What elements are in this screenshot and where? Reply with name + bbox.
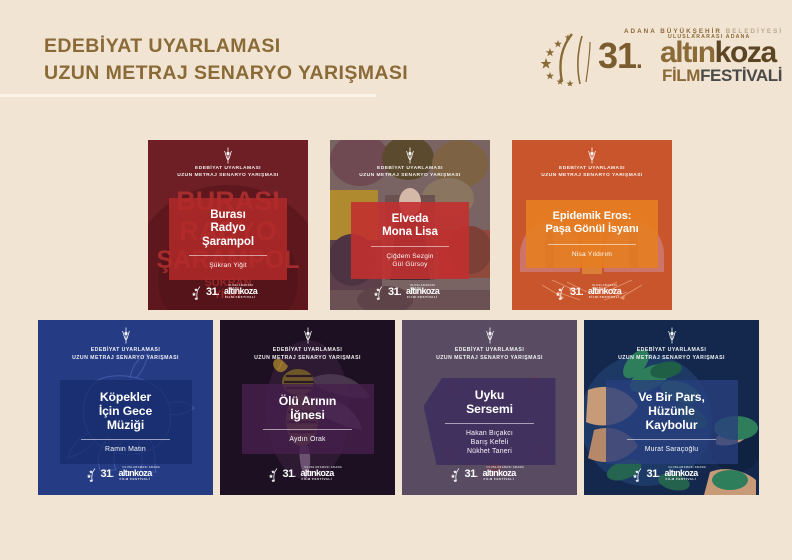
card-contest-header: EDEBİYAT UYARLAMASI UZUN METRAJ SENARYO … [38, 347, 213, 363]
card-logo-sub: FİLM FESTİVALİ [589, 295, 620, 299]
header-divider [0, 94, 376, 97]
card-logo-edition: 31. [465, 468, 478, 481]
card-logo-sub: FİLM FESTİVALİ [302, 477, 333, 481]
figure-crest-icon [302, 327, 313, 344]
plaque-divider [263, 429, 351, 430]
card-festival-logo: 31. ULUSLARARASI ADANA altınkoza FİLM FE… [556, 285, 628, 300]
card-plaque: Epidemik Eros: Paşa Gönül İsyanı Nisa Yı… [526, 200, 658, 268]
card-plaque: Elveda Mona Lisa Çiğdem Sezgin Gül Gürso… [351, 202, 469, 279]
card-logo-edition: 31. [283, 468, 296, 481]
page-header: EDEBİYAT UYARLAMASI UZUN METRAJ SENARYO … [0, 0, 792, 110]
card-festival-logo: 31. ULUSLARARASI ADANA altınkoza FİLM FE… [374, 285, 446, 300]
poster-card[interactable]: EDEBİYAT UYARLAMASI UZUN METRAJ SENARYO … [512, 140, 672, 310]
plaque-divider [627, 439, 715, 440]
card-festival-logo: 31. ULUSLARARASI ADANA altınkoza FİLM FE… [192, 285, 264, 300]
card-logo-sub: FİLM FESTİVALİ [484, 477, 515, 481]
poster-row-top: BURASI RADYO ŞARAMPOL ŞÜKRAN YİĞİT EDEBİ… [148, 140, 672, 310]
figure-crest-icon [587, 147, 598, 164]
page-title: EDEBİYAT UYARLAMASI UZUN METRAJ SENARYO … [44, 33, 408, 87]
festival-brand: altınkoza [660, 38, 776, 68]
poster-card[interactable]: EDEBİYAT UYARLAMASI UZUN METRAJ SENARYO … [584, 320, 759, 495]
card-festival-logo: 31. ULUSLARARASI ADANA altınkoza FİLM FE… [269, 467, 347, 483]
figure-crest-icon [405, 147, 416, 164]
figure-crest-icon [223, 147, 234, 164]
card-contest-header: EDEBİYAT UYARLAMASI UZUN METRAJ SENARYO … [584, 347, 759, 363]
card-festival-logo: 31. ULUSLARARASI ADANA altınkoza FİLM FE… [87, 467, 165, 483]
poster-card[interactable]: EDEBİYAT UYARLAMASI UZUN METRAJ SENARYO … [220, 320, 395, 495]
card-title: Köpekler İçin Gece Müziği [68, 390, 184, 432]
card-logo-sub: FİLM FESTİVALİ [120, 477, 151, 481]
card-plaque: Burası Radyo Şarampol Şükran Yiğit [169, 198, 287, 280]
card-contest-header: EDEBİYAT UYARLAMASI UZUN METRAJ SENARYO … [402, 347, 577, 363]
card-title: Burası Radyo Şarampol [177, 208, 279, 248]
card-logo-sub: FİLM FESTİVALİ [666, 477, 697, 481]
card-title: Epidemik Eros: Paşa Gönül İsyanı [534, 210, 650, 237]
poster-grid-top: BURASI RADYO ŞARAMPOL ŞÜKRAN YİĞİT EDEBİ… [148, 140, 672, 310]
card-logo-edition: 31. [388, 286, 401, 299]
card-logo-edition: 31. [206, 286, 219, 299]
poster-row-bottom: EDEBİYAT UYARLAMASI UZUN METRAJ SENARYO … [38, 320, 759, 495]
card-contest-header: EDEBİYAT UYARLAMASI UZUN METRAJ SENARYO … [512, 165, 672, 179]
card-logo-edition: 31. [101, 468, 114, 481]
poster-card[interactable]: BURASI RADYO ŞARAMPOL ŞÜKRAN YİĞİT EDEBİ… [148, 140, 308, 310]
festival-logo: ADANA BÜYÜKŞEHİR BELEDİYESİ 31. ULUSL [538, 26, 766, 88]
card-logo-sub: FİLM FESTİVALİ [407, 295, 438, 299]
card-plaque: Ölü Arının İğnesi Aydın Orak [242, 384, 374, 454]
poster-card[interactable]: EDEBİYAT UYARLAMASI UZUN METRAJ SENARYO … [402, 320, 577, 495]
figure-crest-icon [484, 327, 495, 344]
card-title: Elveda Mona Lisa [359, 212, 461, 239]
plaque-divider [445, 423, 533, 424]
card-title: Uyku Sersemi [432, 388, 548, 416]
card-contest-header: EDEBİYAT UYARLAMASI UZUN METRAJ SENARYO … [220, 347, 395, 363]
card-author: Nisa Yıldırım [534, 251, 650, 259]
card-plaque: Ve Bir Pars, Hüzünle Kaybolur Murat Sara… [606, 380, 738, 464]
card-author: Hakan Bıçakcı Barış Kefeli Nükhet Taneri [432, 430, 548, 456]
poster-card[interactable]: EDEBİYAT UYARLAMASI UZUN METRAJ SENARYO … [330, 140, 490, 310]
plaque-divider [548, 244, 636, 245]
card-author: Çiğdem Sezgin Gül Gürsoy [359, 253, 461, 270]
poster-card[interactable]: EDEBİYAT UYARLAMASI UZUN METRAJ SENARYO … [38, 320, 213, 495]
card-plaque: Uyku Sersemi Hakan Bıçakcı Barış Kefeli … [424, 378, 556, 465]
card-logo-edition: 31. [570, 286, 583, 299]
poster-page: EDEBİYAT UYARLAMASI UZUN METRAJ SENARYO … [0, 0, 792, 560]
plaque-divider [189, 255, 267, 256]
plaque-divider [81, 439, 169, 440]
festival-edition: 31. [598, 38, 642, 79]
poster-grid-bottom: EDEBİYAT UYARLAMASI UZUN METRAJ SENARYO … [38, 320, 759, 495]
card-author: Murat Saraçoğlu [614, 446, 730, 455]
card-author: Şükran Yiğit [177, 262, 279, 270]
card-logo-edition: 31. [647, 468, 660, 481]
card-contest-header: EDEBİYAT UYARLAMASI UZUN METRAJ SENARYO … [148, 165, 308, 179]
figure-crest-icon [120, 327, 131, 344]
card-festival-logo: 31. ULUSLARARASI ADANA altınkoza FİLM FE… [633, 467, 711, 483]
festival-film-label: FİLMFESTİVALİ [662, 66, 782, 86]
card-festival-logo: 31. ULUSLARARASI ADANA altınkoza FİLM FE… [451, 467, 529, 483]
card-plaque: Köpekler İçin Gece Müziği Ramin Matin [60, 380, 192, 464]
card-author: Aydın Orak [250, 436, 366, 445]
card-author: Ramin Matin [68, 446, 184, 455]
plaque-divider [371, 246, 449, 247]
figure-crest-icon [666, 327, 677, 344]
card-title: Ölü Arının İğnesi [250, 394, 366, 422]
card-contest-header: EDEBİYAT UYARLAMASI UZUN METRAJ SENARYO … [330, 165, 490, 179]
card-logo-sub: FİLM FESTİVALİ [225, 295, 256, 299]
card-title: Ve Bir Pars, Hüzünle Kaybolur [614, 390, 730, 432]
